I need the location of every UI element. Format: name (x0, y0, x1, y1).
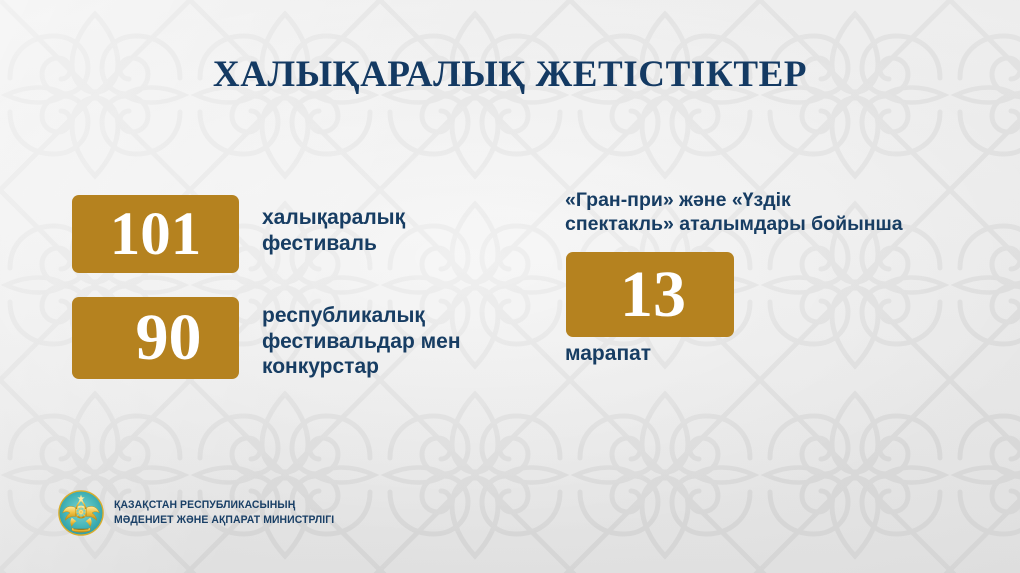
stat-heading-line: «Гран-при» және «Үздік (565, 188, 965, 212)
stat-label-line: фестиваль (262, 231, 502, 257)
stat-number-101: 101 (110, 204, 202, 265)
stat-heading-awards: «Гран-при» және «Үздік спектакль» аталым… (565, 188, 965, 237)
stat-label-line: фестивальдар мен (262, 329, 512, 355)
stat-value-box-republican-festivals: 90 (72, 297, 239, 379)
ministry-logo: ҚАЗАҚСТАН РЕСПУБЛИКАСЫНЫҢ МӘДЕНИЕТ ЖӘНЕ … (58, 490, 351, 536)
stat-label-awards-unit: марапат (565, 341, 651, 367)
stat-heading-line: спектакль» аталымдары бойынша (565, 212, 965, 236)
page-title: ХАЛЫҚАРАЛЫҚ ЖЕТІСТІКТЕР (0, 53, 1020, 96)
stat-label-republican-festivals: республикалық фестивальдар мен конкурста… (262, 303, 512, 380)
slide-canvas: ХАЛЫҚАРАЛЫҚ ЖЕТІСТІКТЕР 101 халықаралық … (0, 0, 1020, 573)
stat-label-line: халықаралық (262, 205, 502, 231)
stat-number-90: 90 (136, 305, 202, 371)
stat-label-international-festivals: халықаралық фестиваль (262, 205, 502, 256)
stat-label-line: конкурстар (262, 354, 512, 380)
stat-number-13: 13 (620, 262, 686, 328)
kazakhstan-coat-of-arms-icon (58, 490, 104, 536)
ministry-name-line2: МӘДЕНИЕТ ЖӘНЕ АҚПАРАТ МИНИСТРЛІГІ (114, 513, 334, 528)
stat-label-line: республикалық (262, 303, 512, 329)
ministry-name-line1: ҚАЗАҚСТАН РЕСПУБЛИКАСЫНЫҢ (114, 498, 334, 513)
ministry-name: ҚАЗАҚСТАН РЕСПУБЛИКАСЫНЫҢ МӘДЕНИЕТ ЖӘНЕ … (114, 498, 334, 528)
stat-value-box-international-festivals: 101 (72, 195, 239, 273)
stat-value-box-awards: 13 (566, 252, 734, 337)
